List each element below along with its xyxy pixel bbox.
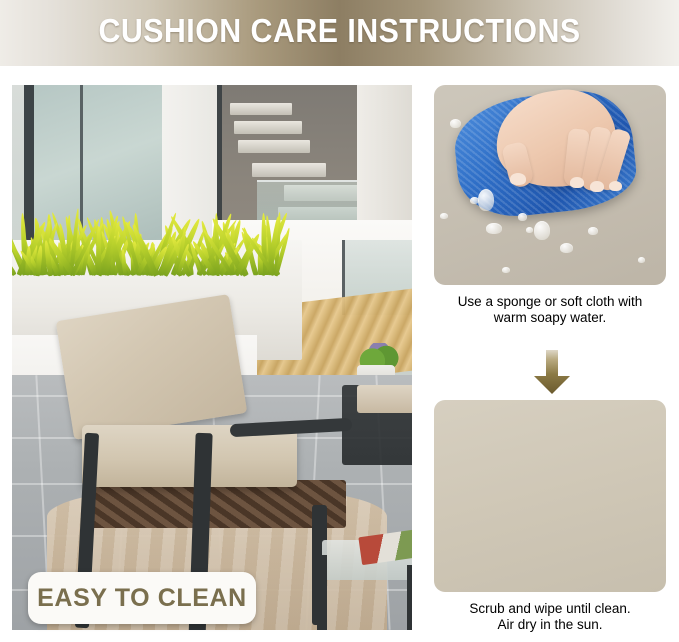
thumbnail (510, 173, 526, 185)
chair-wicker-base (84, 480, 346, 528)
water-droplet (450, 119, 461, 128)
water-droplet (502, 267, 510, 273)
fingernail (570, 177, 584, 188)
step-1-image (434, 85, 666, 285)
step-1-caption-line-2: warm soapy water. (434, 310, 666, 326)
side-table-leg (407, 565, 412, 630)
step-2-image (434, 400, 666, 592)
water-droplet (560, 243, 573, 253)
fingernail (590, 181, 604, 192)
stair-step (238, 140, 310, 153)
grass-plants (12, 205, 278, 275)
water-droplet (534, 221, 550, 240)
step-1-caption-line-1: Use a sponge or soft cloth with (434, 294, 666, 310)
down-arrow (533, 350, 571, 394)
step-1-caption: Use a sponge or soft cloth with warm soa… (434, 294, 666, 326)
stair-step (234, 121, 302, 134)
page-title: CUSHION CARE INSTRUCTIONS (27, 12, 652, 50)
patio-chair-photo (12, 85, 412, 630)
fingernail (609, 181, 622, 191)
water-droplet (638, 257, 645, 263)
stair-step (230, 103, 292, 115)
water-droplet (518, 213, 527, 221)
easy-to-clean-label: EASY TO CLEAN (37, 584, 247, 613)
side-table-leg (317, 555, 327, 630)
step-2-caption-line-2: Air dry in the sun. (434, 617, 666, 633)
stair-step (252, 163, 326, 177)
step-2-caption-line-1: Scrub and wipe until clean. (434, 601, 666, 617)
second-chair-cushion (357, 385, 412, 413)
grass-blade (96, 226, 101, 275)
header-banner: CUSHION CARE INSTRUCTIONS (0, 0, 679, 66)
water-droplet (588, 227, 598, 235)
water-droplet (440, 213, 448, 219)
hero-scene (12, 85, 412, 630)
water-droplet (486, 223, 502, 234)
water-droplet (526, 227, 533, 233)
easy-to-clean-badge: EASY TO CLEAN (28, 572, 256, 624)
wall-right (357, 85, 412, 235)
water-droplet (478, 189, 494, 211)
step-2-caption: Scrub and wipe until clean. Air dry in t… (434, 601, 666, 633)
